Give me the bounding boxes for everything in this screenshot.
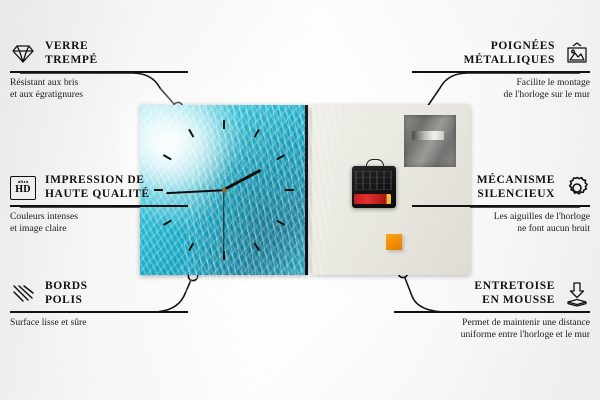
feature-title-line1: BORDS	[45, 280, 88, 294]
feature-divider	[10, 311, 188, 312]
feature-title: MÉCANISME SILENCIEUX	[477, 174, 555, 201]
feature-divider	[10, 71, 188, 72]
feature-header: ultra HD IMPRESSION DE HAUTE QUALITÉ	[10, 174, 188, 201]
feature-subtitle: Les aiguilles de l'horloge ne font aucun…	[412, 211, 590, 236]
feature-title-line1: ENTRETOISE	[474, 280, 555, 294]
feature-subtitle-line2: de l'horloge sur le mur	[412, 89, 590, 101]
feature-subtitle-line2: et aux égratignures	[10, 89, 188, 101]
feature-title: ENTRETOISE EN MOUSSE	[474, 280, 555, 307]
feature-title-line2: EN MOUSSE	[474, 294, 555, 308]
ultra-hd-icon: ultra HD	[10, 175, 36, 201]
diamond-icon	[10, 41, 36, 67]
gear-icon	[564, 175, 590, 201]
picture-frame-hanger-icon	[564, 41, 590, 67]
feature-title: IMPRESSION DE HAUTE QUALITÉ	[45, 174, 150, 201]
feature-header: VERRE TREMPÉ	[10, 40, 188, 67]
feature-subtitle-line1: Permet de maintenir une distance	[394, 317, 590, 329]
feature-title: POIGNÉES MÉTALLIQUES	[464, 40, 555, 67]
feature-header: POIGNÉES MÉTALLIQUES	[412, 40, 590, 67]
feature-title-line2: MÉTALLIQUES	[464, 54, 555, 68]
feature-divider	[394, 311, 590, 312]
foam-spacer-arrow-icon	[564, 281, 590, 307]
feature-subtitle-line1: Les aiguilles de l'horloge	[412, 211, 590, 223]
feature-subtitle-line2: et image claire	[10, 223, 188, 235]
hanger-slot	[412, 131, 444, 140]
feature-subtitle-line1: Surface lisse et sûre	[10, 317, 188, 329]
feature-subtitle-line2: ne font aucun bruit	[412, 223, 590, 235]
clock-mechanism	[352, 166, 396, 208]
feature-header: ENTRETOISE EN MOUSSE	[394, 280, 590, 307]
feature-subtitle: Facilite le montage de l'horloge sur le …	[412, 77, 590, 102]
feature-title-line2: TREMPÉ	[45, 54, 98, 68]
feature-subtitle-line1: Facilite le montage	[412, 77, 590, 89]
feature-title-line1: IMPRESSION DE	[45, 174, 150, 188]
feature-title: VERRE TREMPÉ	[45, 40, 98, 67]
feature-subtitle: Permet de maintenir une distance uniform…	[394, 317, 590, 342]
feature-subtitle-line1: Couleurs intenses	[10, 211, 188, 223]
feature-poignees-metalliques: POIGNÉES MÉTALLIQUES Facilite le montage…	[412, 40, 590, 101]
battery	[354, 194, 391, 204]
feature-subtitle: Surface lisse et sûre	[10, 317, 188, 329]
feature-entretoise-en-mousse: ENTRETOISE EN MOUSSE Permet de maintenir…	[394, 280, 590, 341]
feature-title-line2: HAUTE QUALITÉ	[45, 188, 150, 202]
feature-header: BORDS POLIS	[10, 280, 188, 307]
feature-title-line1: MÉCANISME	[477, 174, 555, 188]
feature-title-line1: POIGNÉES	[464, 40, 555, 54]
feature-subtitle-line1: Résistant aux bris	[10, 77, 188, 89]
feature-divider	[412, 205, 590, 206]
feature-title: BORDS POLIS	[45, 280, 88, 307]
feature-divider	[10, 205, 188, 206]
feature-subtitle: Résistant aux bris et aux égratignures	[10, 77, 188, 102]
feature-subtitle: Couleurs intenses et image claire	[10, 211, 188, 236]
feature-mecanisme-silencieux: MÉCANISME SILENCIEUX Les aiguilles de l'…	[412, 174, 590, 235]
foam-spacer-pad	[386, 234, 402, 250]
feature-divider	[412, 71, 590, 72]
hands-center-cap	[222, 188, 227, 193]
clock-edge	[305, 105, 308, 275]
metal-hanger-plate	[404, 115, 456, 167]
feature-title-line1: VERRE	[45, 40, 98, 54]
feature-header: MÉCANISME SILENCIEUX	[412, 174, 590, 201]
ultra-hd-icon-large-text: HD	[15, 185, 31, 195]
feature-title-line2: POLIS	[45, 294, 88, 308]
hour-marker	[224, 189, 294, 191]
feature-verre-trempe: VERRE TREMPÉ Résistant aux bris et aux é…	[10, 40, 188, 101]
feature-bords-polis: BORDS POLIS Surface lisse et sûre	[10, 280, 188, 329]
polished-edges-icon	[10, 281, 36, 307]
mechanism-hook	[366, 159, 384, 169]
hour-marker	[223, 120, 225, 190]
feature-title-line2: SILENCIEUX	[477, 188, 555, 202]
product-infographic: VERRE TREMPÉ Résistant aux bris et aux é…	[0, 0, 600, 400]
feature-subtitle-line2: uniforme entre l'horloge et le mur	[394, 329, 590, 341]
mechanism-texture	[355, 171, 392, 190]
feature-impression-haute-qualite: ultra HD IMPRESSION DE HAUTE QUALITÉ Cou…	[10, 174, 188, 235]
